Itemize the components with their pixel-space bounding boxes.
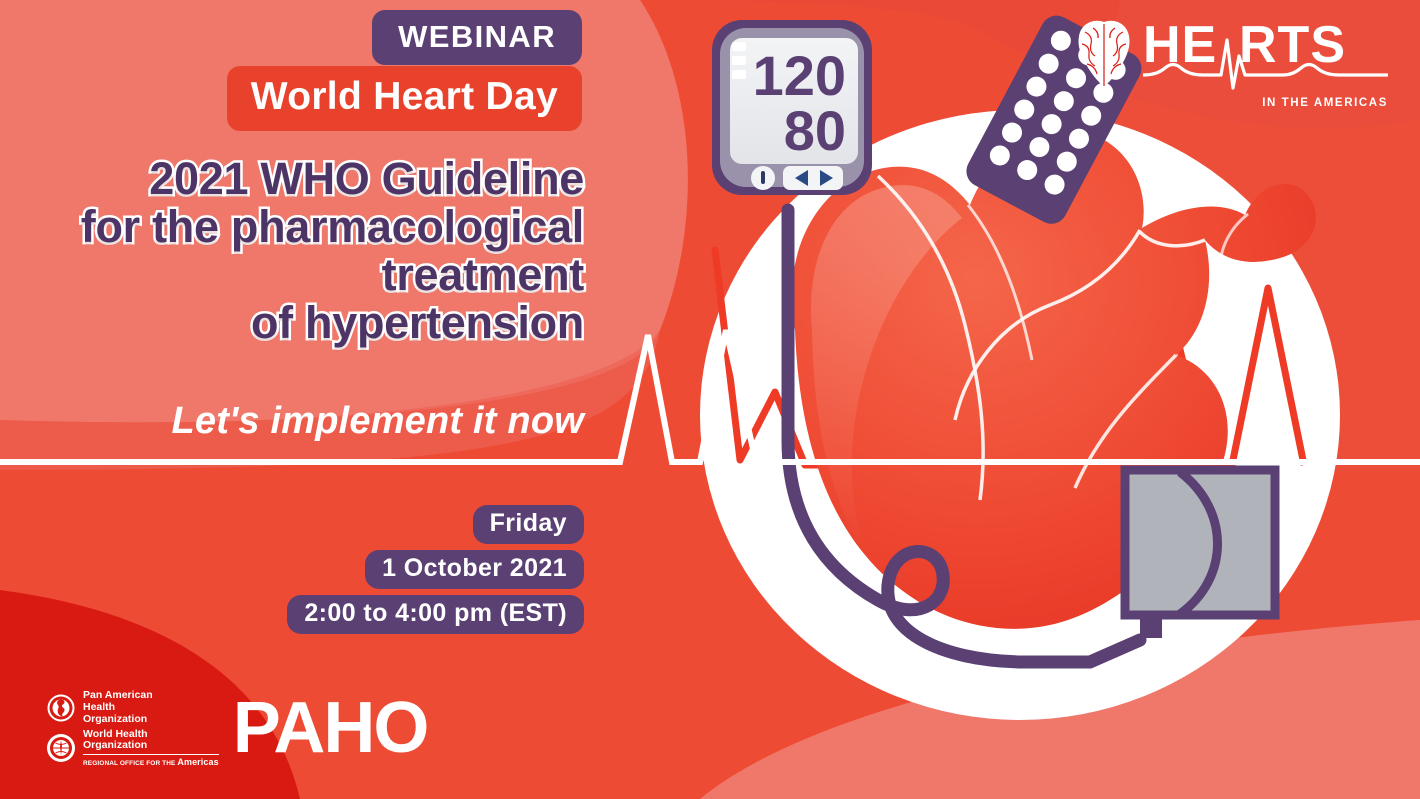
monitor-diastolic-value: 80 [784,99,846,162]
title-line-1-rest: WHO Guideline [248,153,584,204]
event-date: 1 October 2021 [365,550,584,589]
paho-name-l2: Health [83,702,153,714]
hearts-wordmark-group: HE RTS IN THE AMERICAS [1143,16,1388,109]
paho-name-l3: Organization [83,714,153,726]
pan-american-text: Pan American Health Organization [83,690,153,726]
page-title: 2021 WHO Guideline for the pharmacologic… [24,155,584,348]
tagline: Let's implement it now [24,400,584,443]
illustration-group: 120 80 [620,0,1420,799]
title-year: 2021 [149,153,248,204]
regional-office-line: REGIONAL OFFICE FOR THE Americas [83,757,219,767]
regional-office-americas: Americas [177,757,218,767]
title-line-3: treatment [24,251,584,299]
badge-event-name: World Heart Day [227,66,582,131]
paho-emblem-row: Pan American Health Organization [46,690,219,726]
title-line-2: for the pharmacological [24,203,584,251]
bp-cuff [1125,470,1275,638]
badge-webinar: WEBINAR [372,10,582,65]
hearts-logo: HE RTS IN THE AMERICAS [1073,16,1388,109]
who-text: World Health Organization REGIONAL OFFIC… [83,729,219,768]
monitor-systolic-value: 120 [753,44,846,107]
hearts-wordmark-post: RTS [1239,16,1346,74]
hearts-wordmark-svg: HE RTS [1143,16,1388,90]
pan-american-health-emblem [46,693,76,723]
poster-canvas: 120 80 [0,0,1420,799]
title-line-1: 2021 WHO Guideline [24,155,584,203]
regional-office-small: REGIONAL OFFICE FOR THE [83,760,175,767]
badge-event-wrap: World Heart Day [227,66,582,131]
paho-wordmark: PAHO [233,700,428,758]
title-line-4: of hypertension [24,299,584,347]
text-column: WEBINAR World Heart Day 2021 WHO Guideli… [0,0,620,799]
who-name-l2: Organization [83,740,219,752]
hearts-subtitle: IN THE AMERICAS [1143,97,1388,109]
event-time: 2:00 to 4:00 pm (EST) [287,595,584,634]
event-day: Friday [473,505,584,544]
heart-brain-icon [1073,16,1135,88]
paho-logo: Pan American Health Organization [46,690,427,768]
paho-emblems: Pan American Health Organization [46,690,219,768]
badge-webinar-wrap: WEBINAR [372,10,582,65]
bp-monitor: 120 80 [712,20,872,195]
who-underline [83,754,219,755]
who-emblem-row: World Health Organization REGIONAL OFFIC… [46,729,219,768]
event-date-block: Friday 1 October 2021 2:00 to 4:00 pm (E… [287,505,584,640]
who-emblem [46,733,76,763]
